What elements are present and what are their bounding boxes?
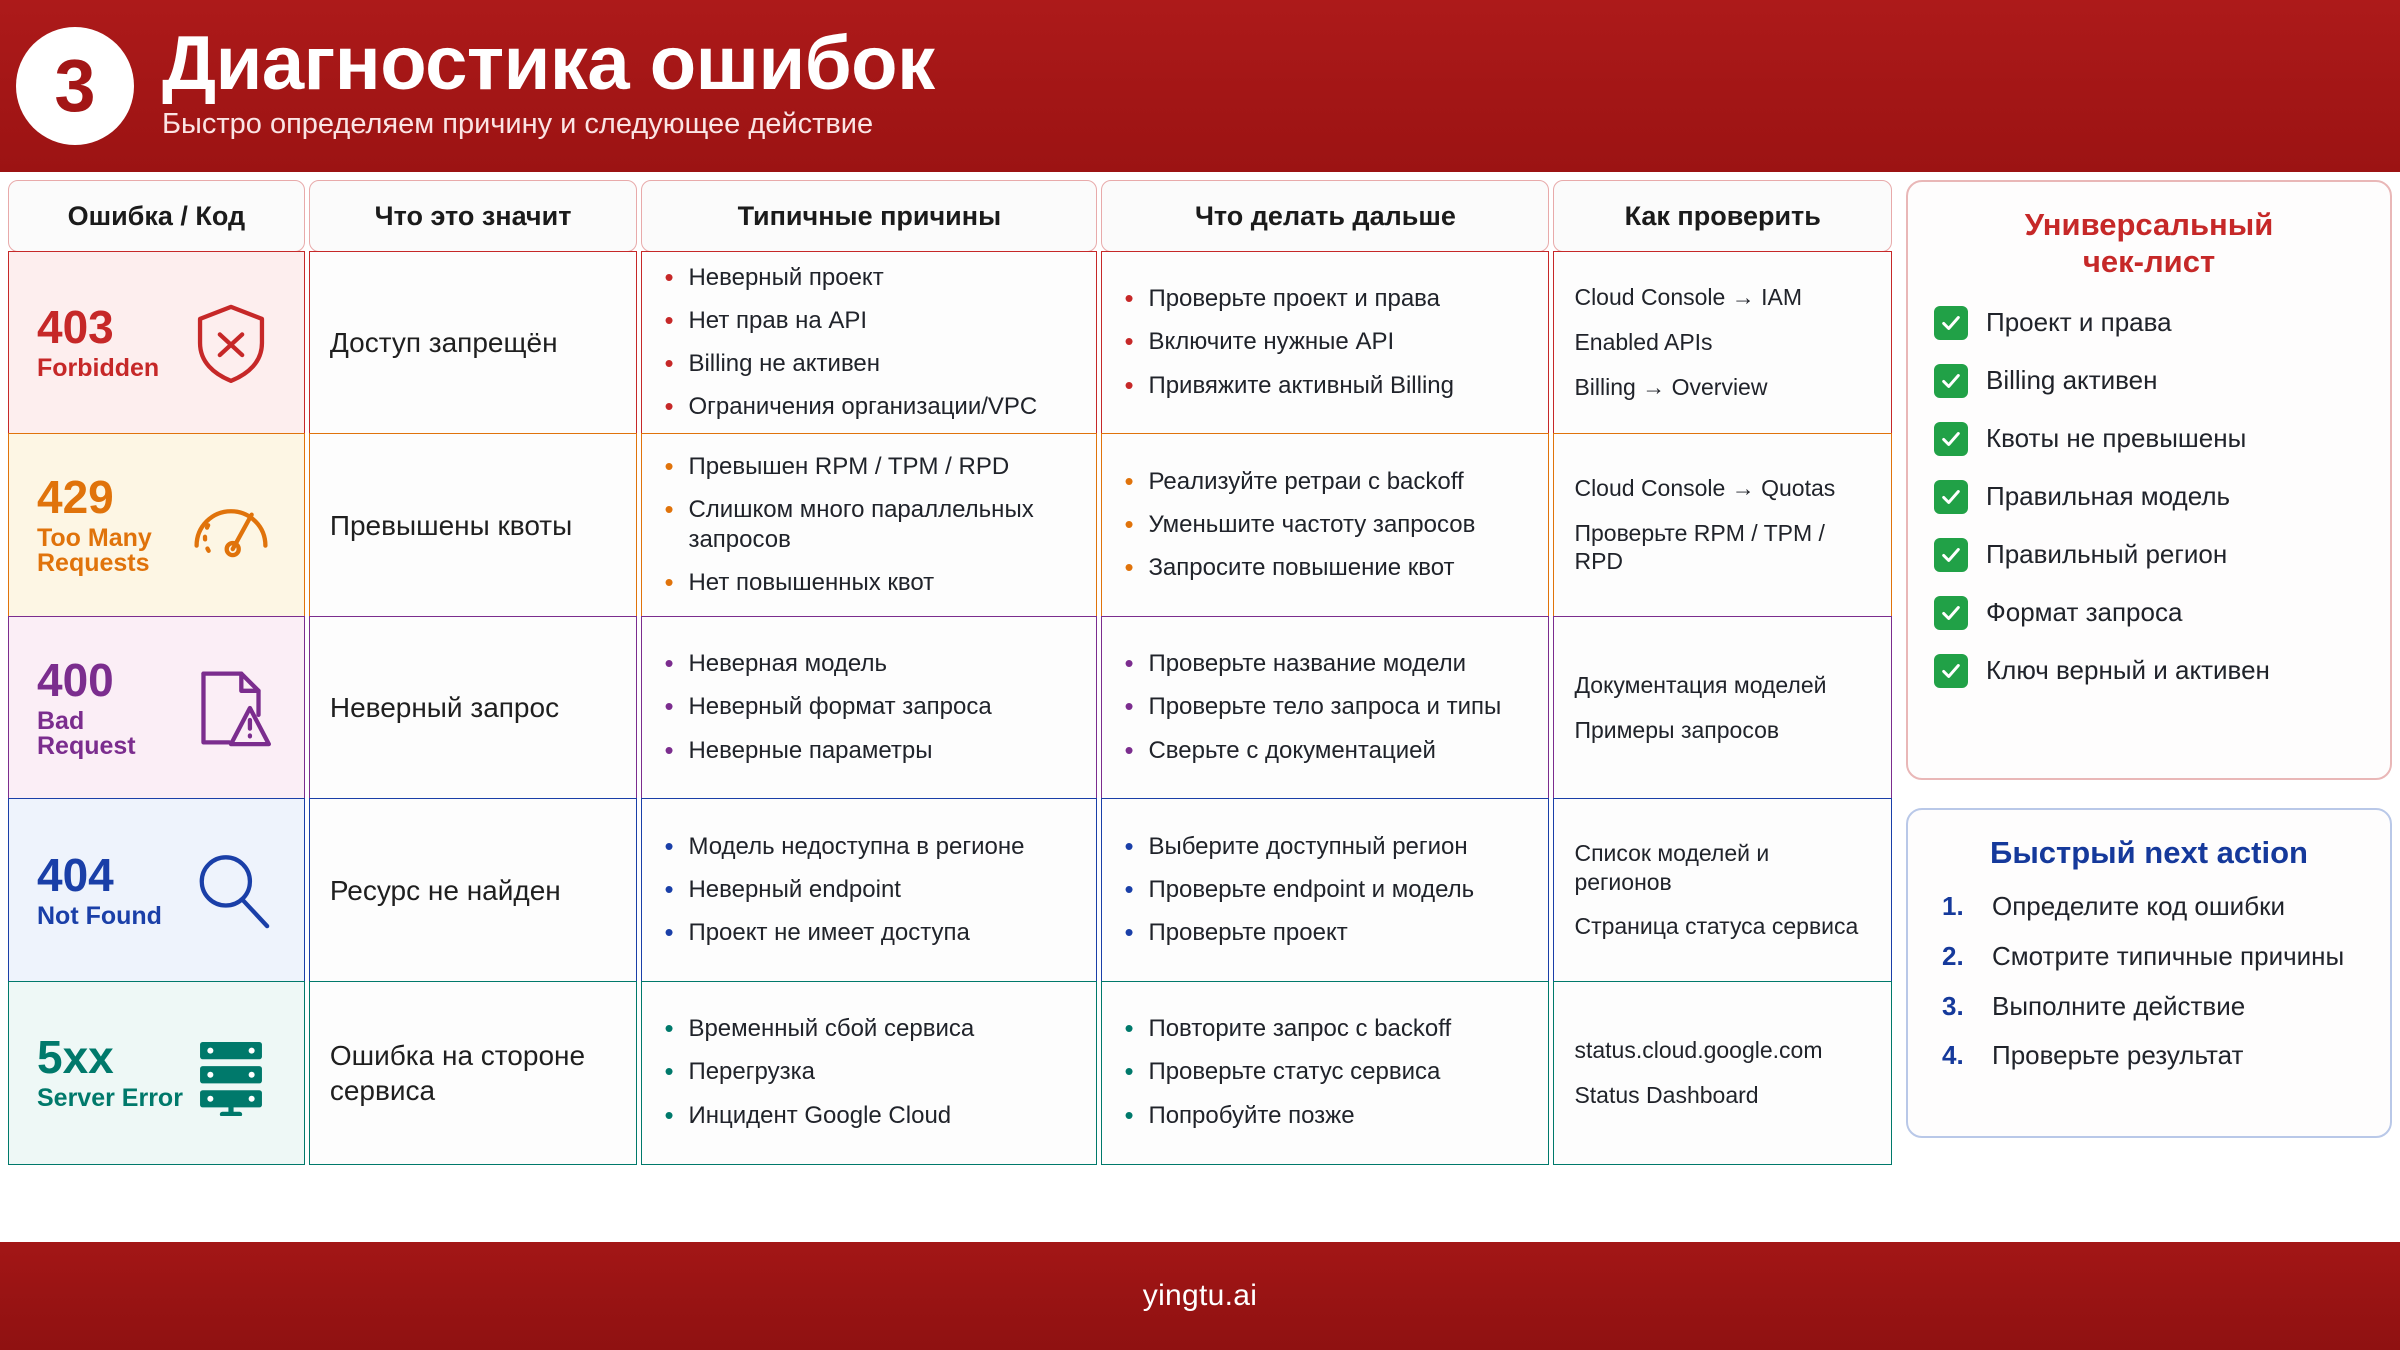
error-actions-cell: Проверьте название моделиПроверьте тело … <box>1101 616 1549 800</box>
error-diagnostics-table: Ошибка / КодЧто это значитТипичные причи… <box>8 180 1892 1180</box>
error-meaning-cell: Ресурс не найден <box>309 798 638 982</box>
list-item: Выберите доступный регион <box>1122 832 1528 862</box>
error-code-name: Too Many Requests <box>37 526 188 576</box>
error-actions-cell: Реализуйте ретраи с backoffУменьшите час… <box>1101 433 1549 617</box>
error-causes-cell-list: Превышен RPM / TPM / RPDСлишком много па… <box>662 452 1076 599</box>
page-footer: yingtu.ai <box>0 1242 2400 1350</box>
checklist-item[interactable]: Правильный регион <box>1934 538 2364 572</box>
list-item: Список моделей и регионов <box>1574 839 1871 897</box>
error-meaning-text: Доступ запрещён <box>330 325 617 360</box>
error-actions-cell-list: Проверьте название моделиПроверьте тело … <box>1122 649 1528 766</box>
table-row: 403ForbiddenДоступ запрещёнНеверный прое… <box>8 251 1892 435</box>
check-mark-icon[interactable] <box>1934 480 1968 514</box>
page-title: Диагностика ошибок <box>162 25 935 103</box>
error-check-cell-list: Cloud Console → QuotasПроверьте RPM / TP… <box>1574 474 1871 576</box>
error-meaning-text: Превышены квоты <box>330 508 617 543</box>
page-main: Ошибка / КодЧто это значитТипичные причи… <box>0 172 2400 1242</box>
table-header-code: Ошибка / Код <box>8 180 305 252</box>
check-mark-icon[interactable] <box>1934 538 1968 572</box>
error-code-cell: 5xxServer Error <box>8 981 305 1165</box>
error-meaning-cell: Ошибка на стороне сервиса <box>309 981 638 1165</box>
table-header-meaning: Что это значит <box>309 180 638 252</box>
sidebar: Универсальный чек-лист Проект и праваBil… <box>1906 180 2392 1138</box>
list-item: Проверьте название модели <box>1122 649 1528 679</box>
error-check-cell-list: Документация моделейПримеры запросов <box>1574 671 1871 745</box>
list-item: Неверный проект <box>662 263 1076 293</box>
error-causes-cell: Модель недоступна в регионеНеверный endp… <box>641 798 1097 982</box>
error-causes-cell-list: Временный сбой сервисаПерегрузкаИнцидент… <box>662 1014 1076 1131</box>
next-action-step: Смотрите типичные причины <box>1934 941 2364 973</box>
error-check-cell: Cloud Console → IAMEnabled APIsBilling →… <box>1553 251 1892 435</box>
error-code-text: 5xxServer Error <box>37 1034 183 1111</box>
error-code-number: 403 <box>37 304 159 350</box>
checklist-item[interactable]: Формат запроса <box>1934 596 2364 630</box>
list-item: Привяжите активный Billing <box>1122 371 1528 401</box>
list-item: Запросите повышение квот <box>1122 553 1528 583</box>
infographic-page: 3 Диагностика ошибок Быстро определяем п… <box>0 0 2400 1350</box>
error-code-cell: 404Not Found <box>8 798 305 982</box>
table-header-actions: Что делать дальше <box>1101 180 1549 252</box>
error-check-cell-list: Список моделей и регионовСтраница статус… <box>1574 839 1871 941</box>
error-code-number: 404 <box>37 852 162 898</box>
list-item: Enabled APIs <box>1574 328 1871 357</box>
error-check-cell: status.cloud.google.comStatus Dashboard <box>1553 981 1892 1165</box>
list-item: Проверьте проект и права <box>1122 284 1528 314</box>
magnifier-icon <box>188 847 274 933</box>
error-actions-cell-list: Повторите запрос с backoffПроверьте стат… <box>1122 1014 1528 1131</box>
header-text-block: Диагностика ошибок Быстро определяем при… <box>162 25 935 146</box>
next-action-steps: Определите код ошибкиСмотрите типичные п… <box>1934 891 2364 1072</box>
list-item: status.cloud.google.com <box>1574 1036 1871 1065</box>
list-item: Инцидент Google Cloud <box>662 1101 1076 1131</box>
table-row: 5xxServer ErrorОшибка на стороне сервиса… <box>8 981 1892 1165</box>
table-row: 400Bad RequestНеверный запросНеверная мо… <box>8 616 1892 800</box>
check-mark-icon[interactable] <box>1934 654 1968 688</box>
list-item: Billing → Overview <box>1574 373 1871 402</box>
error-code-number: 5xx <box>37 1034 183 1080</box>
error-actions-cell: Выберите доступный регионПроверьте endpo… <box>1101 798 1549 982</box>
error-code-number: 429 <box>37 474 188 520</box>
list-item: Неверные параметры <box>662 736 1076 766</box>
error-actions-cell: Проверьте проект и праваВключите нужные … <box>1101 251 1549 435</box>
error-meaning-cell: Неверный запрос <box>309 616 638 800</box>
error-meaning-cell: Превышены квоты <box>309 433 638 617</box>
list-item: Реализуйте ретраи с backoff <box>1122 467 1528 497</box>
error-meaning-text: Ресурс не найден <box>330 873 617 908</box>
list-item: Модель недоступна в регионе <box>662 832 1076 862</box>
page-header: 3 Диагностика ошибок Быстро определяем п… <box>0 0 2400 172</box>
list-item: Нет повышенных квот <box>662 568 1076 598</box>
error-causes-cell: Неверный проектНет прав на APIBilling не… <box>641 251 1097 435</box>
error-code-cell: 400Bad Request <box>8 616 305 800</box>
list-item: Неверная модель <box>662 649 1076 679</box>
list-item: Временный сбой сервиса <box>662 1014 1076 1044</box>
error-check-cell: Документация моделейПримеры запросов <box>1553 616 1892 800</box>
list-item: Включите нужные API <box>1122 327 1528 357</box>
header-step-badge: 3 <box>16 27 134 145</box>
error-code-name: Server Error <box>37 1086 183 1111</box>
list-item: Status Dashboard <box>1574 1081 1871 1110</box>
checklist-title-line1: Универсальный <box>1934 206 2364 243</box>
error-actions-cell-list: Выберите доступный регионПроверьте endpo… <box>1122 832 1528 949</box>
checklist-item-label: Правильный регион <box>1986 540 2227 570</box>
error-code-cell: 403Forbidden <box>8 251 305 435</box>
shield-x-icon <box>188 300 274 386</box>
list-item: Повторите запрос с backoff <box>1122 1014 1528 1044</box>
error-check-cell: Список моделей и регионовСтраница статус… <box>1553 798 1892 982</box>
error-code-cell: 429Too Many Requests <box>8 433 305 617</box>
checklist-title: Универсальный чек-лист <box>1934 206 2364 280</box>
error-code-name: Not Found <box>37 904 162 929</box>
table-header-causes: Типичные причины <box>641 180 1097 252</box>
error-code-text: 400Bad Request <box>37 657 188 759</box>
error-meaning-text: Ошибка на стороне сервиса <box>330 1038 617 1108</box>
list-item: Нет прав на API <box>662 306 1076 336</box>
list-item: Превышен RPM / TPM / RPD <box>662 452 1076 482</box>
universal-checklist-card: Универсальный чек-лист Проект и праваBil… <box>1906 180 2392 780</box>
error-check-cell-list: Cloud Console → IAMEnabled APIsBilling →… <box>1574 283 1871 401</box>
check-mark-icon[interactable] <box>1934 422 1968 456</box>
error-actions-cell: Повторите запрос с backoffПроверьте стат… <box>1101 981 1549 1165</box>
list-item: Документация моделей <box>1574 671 1871 700</box>
list-item: Уменьшите частоту запросов <box>1122 510 1528 540</box>
error-code-text: 403Forbidden <box>37 304 159 381</box>
error-actions-cell-list: Проверьте проект и праваВключите нужные … <box>1122 284 1528 401</box>
page-subtitle: Быстро определяем причину и следующее де… <box>162 109 935 141</box>
next-action-card: Быстрый next action Определите код ошибк… <box>1906 808 2392 1138</box>
error-check-cell: Cloud Console → QuotasПроверьте RPM / TP… <box>1553 433 1892 617</box>
checklist-item-label: Billing активен <box>1986 366 2158 396</box>
checklist-item-label: Правильная модель <box>1986 482 2230 512</box>
error-causes-cell-list: Неверный проектНет прав на APIBilling не… <box>662 263 1076 423</box>
check-mark-icon[interactable] <box>1934 596 1968 630</box>
list-item: Перегрузка <box>662 1057 1076 1087</box>
table-body: 403ForbiddenДоступ запрещёнНеверный прое… <box>8 251 1892 1165</box>
error-code-name: Forbidden <box>37 356 159 381</box>
next-action-title: Быстрый next action <box>1934 834 2364 871</box>
checklist-item-label: Ключ верный и активен <box>1986 656 2270 686</box>
list-item: Примеры запросов <box>1574 716 1871 745</box>
checklist-item[interactable]: Ключ верный и активен <box>1934 654 2364 688</box>
gauge-icon <box>188 482 274 568</box>
footer-brand: yingtu.ai <box>1143 1279 1257 1313</box>
error-code-name: Bad Request <box>37 709 188 759</box>
list-item: Cloud Console → Quotas <box>1574 474 1871 503</box>
list-item: Слишком много параллельных запросов <box>662 495 1076 555</box>
error-code-text: 429Too Many Requests <box>37 474 188 576</box>
error-causes-cell: Неверная модельНеверный формат запросаНе… <box>641 616 1097 800</box>
table-row: 404Not FoundРесурс не найденМодель недос… <box>8 798 1892 982</box>
checklist-item[interactable]: Правильная модель <box>1934 480 2364 514</box>
list-item: Cloud Console → IAM <box>1574 283 1871 312</box>
document-warning-icon <box>188 665 274 751</box>
error-code-number: 400 <box>37 657 188 703</box>
error-code-text: 404Not Found <box>37 852 162 929</box>
check-mark-icon[interactable] <box>1934 306 1968 340</box>
checklist-item[interactable]: Проект и права <box>1934 306 2364 340</box>
checklist-items: Проект и праваBilling активенКвоты не пр… <box>1934 306 2364 688</box>
checklist-title-line2: чек-лист <box>1934 243 2364 280</box>
error-meaning-cell: Доступ запрещён <box>309 251 638 435</box>
error-causes-cell-list: Неверная модельНеверный формат запросаНе… <box>662 649 1076 766</box>
error-causes-cell: Временный сбой сервисаПерегрузкаИнцидент… <box>641 981 1097 1165</box>
checklist-item-label: Проект и права <box>1986 308 2172 338</box>
list-item: Проверьте RPM / TPM / RPD <box>1574 519 1871 577</box>
list-item: Неверный формат запроса <box>662 692 1076 722</box>
checklist-item-label: Формат запроса <box>1986 598 2182 628</box>
list-item: Попробуйте позже <box>1122 1101 1528 1131</box>
list-item: Проверьте статус сервиса <box>1122 1057 1528 1087</box>
list-item: Проверьте тело запроса и типы <box>1122 692 1528 722</box>
checklist-item-label: Квоты не превышены <box>1986 424 2246 454</box>
error-check-cell-list: status.cloud.google.comStatus Dashboard <box>1574 1036 1871 1110</box>
list-item: Проверьте проект <box>1122 918 1528 948</box>
list-item: Ограничения организации/VPC <box>662 392 1076 422</box>
list-item: Billing не активен <box>662 349 1076 379</box>
list-item: Проект не имеет доступа <box>662 918 1076 948</box>
list-item: Сверьте с документацией <box>1122 736 1528 766</box>
table-header-row: Ошибка / КодЧто это значитТипичные причи… <box>8 180 1892 252</box>
table-row: 429Too Many RequestsПревышены квотыПревы… <box>8 433 1892 617</box>
server-rack-icon <box>188 1030 274 1116</box>
next-action-step: Проверьте результат <box>1934 1040 2364 1072</box>
checklist-item[interactable]: Billing активен <box>1934 364 2364 398</box>
list-item: Неверный endpoint <box>662 875 1076 905</box>
checklist-item[interactable]: Квоты не превышены <box>1934 422 2364 456</box>
table-header-check: Как проверить <box>1553 180 1892 252</box>
list-item: Проверьте endpoint и модель <box>1122 875 1528 905</box>
next-action-step: Определите код ошибки <box>1934 891 2364 923</box>
error-causes-cell-list: Модель недоступна в регионеНеверный endp… <box>662 832 1076 949</box>
check-mark-icon[interactable] <box>1934 364 1968 398</box>
next-action-step: Выполните действие <box>1934 991 2364 1023</box>
error-actions-cell-list: Реализуйте ретраи с backoffУменьшите час… <box>1122 467 1528 584</box>
error-causes-cell: Превышен RPM / TPM / RPDСлишком много па… <box>641 433 1097 617</box>
error-meaning-text: Неверный запрос <box>330 690 617 725</box>
list-item: Страница статуса сервиса <box>1574 912 1871 941</box>
